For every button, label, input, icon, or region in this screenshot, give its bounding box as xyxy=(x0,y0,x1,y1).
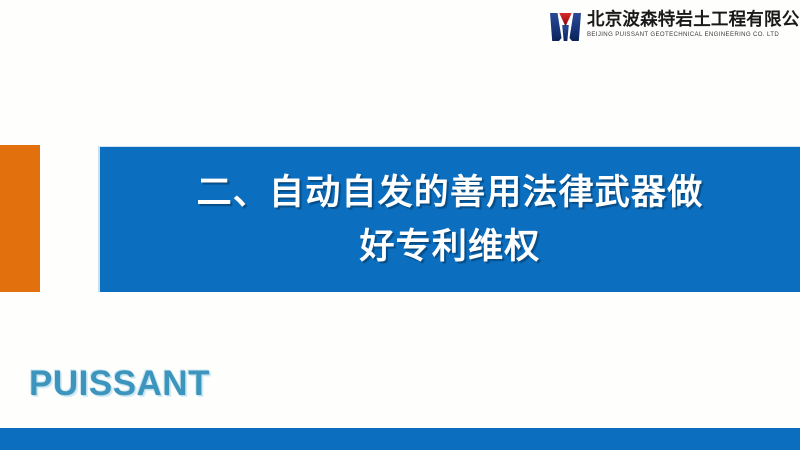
company-logo: 北京波森特岩土工程有限公司 BEIJING PUISSANT GEOTECHNI… xyxy=(549,10,794,46)
puissant-w-logo-icon xyxy=(549,11,582,43)
company-name-cn: 北京波森特岩土工程有限公司 xyxy=(587,10,800,29)
section-title-line-2: 好专利维权 xyxy=(359,220,540,274)
logo-text-block: 北京波森特岩土工程有限公司 BEIJING PUISSANT GEOTECHNI… xyxy=(587,10,800,39)
section-title-panel: 二、自动自发的善用法律武器做 好专利维权 xyxy=(98,146,800,292)
company-name-en: BEIJING PUISSANT GEOTECHNICAL ENGINEERIN… xyxy=(587,30,800,39)
slide-canvas: 北京波森特岩土工程有限公司 BEIJING PUISSANT GEOTECHNI… xyxy=(0,0,800,450)
section-title-line-1: 二、自动自发的善用法律武器做 xyxy=(197,166,704,220)
footer-bar xyxy=(0,428,800,450)
brand-wordmark: PUISSANT xyxy=(29,365,210,403)
orange-accent-bar xyxy=(0,145,40,292)
